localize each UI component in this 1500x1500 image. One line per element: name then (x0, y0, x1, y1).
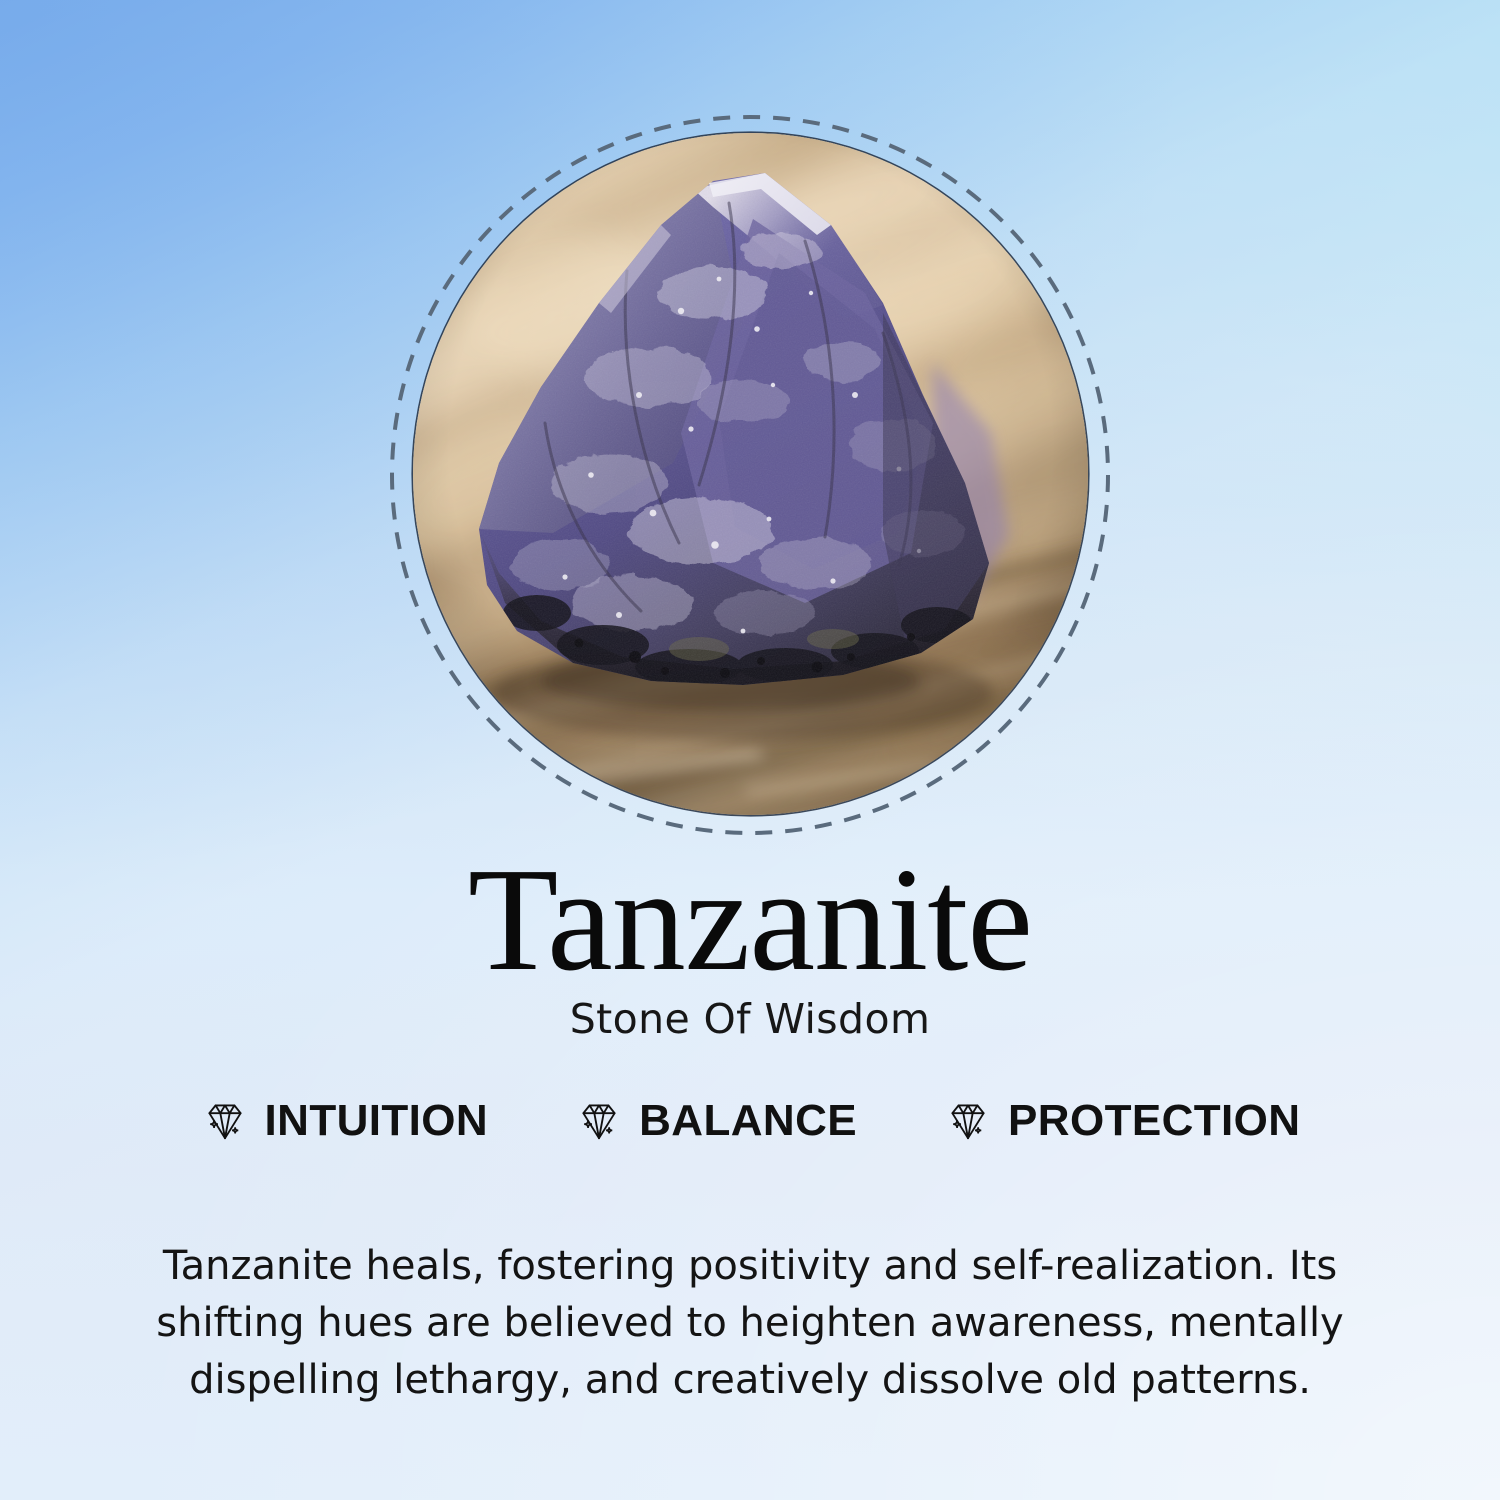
attribute-label: BALANCE (639, 1099, 857, 1143)
attribute-item-intuition: INTUITION (200, 1096, 489, 1146)
gemstone-photo (413, 133, 1088, 815)
tanzanite-infographic-card: Tanzanite Stone Of Wisdom (0, 0, 1500, 1500)
description-paragraph: Tanzanite heals, fostering positivity an… (95, 1238, 1405, 1410)
attribute-label: PROTECTION (1008, 1099, 1300, 1143)
gemstone-medallion (390, 115, 1110, 835)
attribute-item-balance: BALANCE (574, 1096, 857, 1146)
page-title: Tanzanite (0, 846, 1500, 994)
page-subtitle: Stone Of Wisdom (0, 995, 1500, 1043)
diamond-icon (943, 1096, 993, 1146)
diamond-icon (574, 1096, 624, 1146)
attribute-item-protection: PROTECTION (943, 1096, 1300, 1146)
attribute-list: INTUITION BALANC (0, 1096, 1500, 1146)
diamond-icon (200, 1096, 250, 1146)
attribute-label: INTUITION (265, 1099, 489, 1143)
